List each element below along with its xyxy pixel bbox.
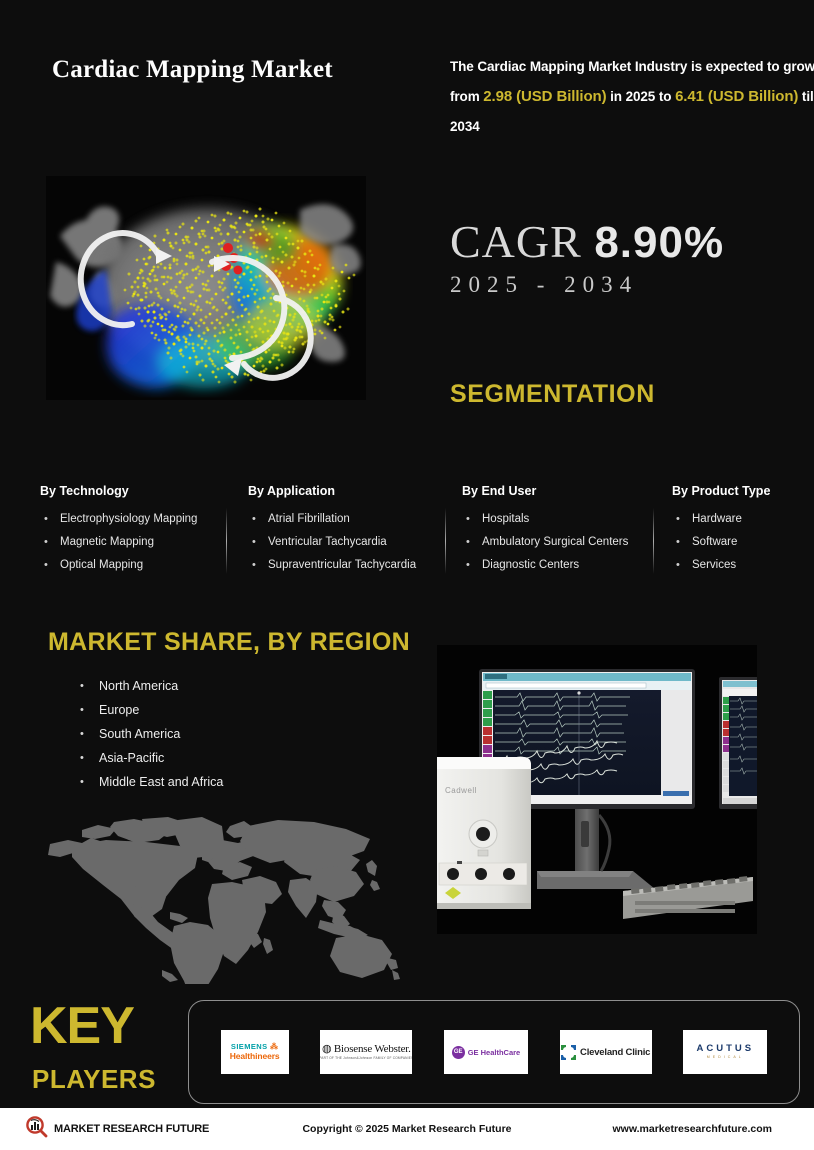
list-item: •Supraventricular Tachycardia [248,554,458,577]
list-item: •South America [75,722,223,746]
bullet-icon: • [80,770,84,794]
segmentation-title: SEGMENTATION [450,380,655,409]
logo-biosense-webster[interactable]: ◍ Biosense Webster. PART OF THE Johnson&… [320,1030,412,1074]
segment-header: By End User [462,484,662,498]
logo-text-line1: SIEMENS [231,1042,268,1051]
bullet-icon: • [466,508,470,531]
list-item: •Magnetic Mapping [40,531,210,554]
list-item: •Services [672,554,812,577]
list-item-label: Hospitals [482,513,529,525]
logo-text-line1: Biosense Webster. [334,1043,411,1055]
intro-value-start: 2.98 (USD Billion) [483,88,606,105]
intro-value-end: 6.41 (USD Billion) [675,88,798,105]
list-item: •Ambulatory Surgical Centers [462,531,662,554]
cagr-block: CAGR 8.90% [450,215,724,270]
list-item-label: Diagnostic Centers [482,559,579,571]
region-label: Middle East and Africa [99,775,223,789]
list-item-label: Atrial Fibrillation [268,513,350,525]
cagr-label: CAGR [450,216,582,267]
segmentation-column-end-user: By End User •Hospitals •Ambulatory Surgi… [462,484,662,577]
bullet-icon: • [252,531,256,554]
column-divider [653,508,654,574]
key-players-container: SIEMENS ⁂ Healthineers ◍ Biosense Webste… [188,1000,800,1104]
list-item: •North America [75,674,223,698]
segment-header: By Product Type [672,484,812,498]
bullet-icon: • [44,554,48,577]
market-share-title: MARKET SHARE, BY REGION [48,628,410,657]
cleveland-clinic-icon [561,1045,576,1060]
bullet-icon: • [252,508,256,531]
bullet-icon: • [80,746,84,770]
bullet-icon: • [252,554,256,577]
bullet-icon: • [466,531,470,554]
bullet-icon: • [466,554,470,577]
infographic-page: Cardiac Mapping Market The Cardiac Mappi… [0,0,814,1150]
page-title: Cardiac Mapping Market [52,52,392,87]
list-item: •Middle East and Africa [75,770,223,794]
column-divider [226,508,227,574]
list-item-label: Software [692,536,737,548]
segment-item-list: •Electrophysiology Mapping •Magnetic Map… [40,508,210,577]
list-item: •Hospitals [462,508,662,531]
globe-icon: ◍ [322,1043,331,1055]
segment-item-list: •Hardware •Software •Services [672,508,812,577]
segmentation-column-technology: By Technology •Electrophysiology Mapping… [40,484,210,577]
list-item-label: Ambulatory Surgical Centers [482,536,628,548]
region-label: North America [99,679,178,693]
region-list: •North America •Europe •South America •A… [75,674,223,794]
list-item: •Software [672,531,812,554]
logo-text-line1: Cleveland Clinic [580,1047,650,1058]
list-item-label: Magnetic Mapping [60,536,154,548]
logo-text-line1: GE HealthCare [468,1048,521,1057]
bullet-icon: • [44,531,48,554]
intro-paragraph: The Cardiac Mapping Market Industry is e… [450,52,814,142]
bullet-icon: • [676,508,680,531]
logo-text-line2: Healthineers [230,1052,280,1061]
ep-recording-system-image: Cadwell [437,645,757,934]
intro-mid: in 2025 to [606,89,675,104]
bullet-icon: • [44,508,48,531]
list-item-label: Hardware [692,513,742,525]
svg-text:Cadwell: Cadwell [445,786,477,795]
list-item-label: Electrophysiology Mapping [60,513,197,525]
bullet-icon: • [80,698,84,722]
sparkle-icon: ⁂ [270,1042,278,1051]
market-research-future-logo-icon [26,1116,48,1143]
cagr-value: 8.90% [594,218,724,267]
list-item: •Electrophysiology Mapping [40,508,210,531]
segment-item-list: •Hospitals •Ambulatory Surgical Centers … [462,508,662,577]
key-players-logo-row: SIEMENS ⁂ Healthineers ◍ Biosense Webste… [189,1001,799,1103]
list-item: •Ventricular Tachycardia [248,531,458,554]
logo-ge-healthcare[interactable]: GE GE HealthCare [444,1030,528,1074]
logo-siemens-healthineers[interactable]: SIEMENS ⁂ Healthineers [221,1030,289,1074]
bullet-icon: • [80,722,84,746]
logo-cleveland-clinic[interactable]: Cleveland Clinic [560,1030,652,1074]
cagr-year-range: 2025 - 2034 [450,272,638,298]
list-item: •Asia-Pacific [75,746,223,770]
bullet-icon: • [676,531,680,554]
segment-header: By Technology [40,484,210,498]
footer-copyright: Copyright © 2025 Market Research Future [302,1123,511,1135]
bullet-icon: • [676,554,680,577]
footer-bar: MARKET RESEARCH FUTURE Copyright © 2025 … [0,1108,814,1150]
logo-acutus-medical[interactable]: ACUTUS MEDICAL [683,1030,767,1074]
list-item-label: Supraventricular Tachycardia [268,559,416,571]
list-item: •Hardware [672,508,812,531]
ge-monogram-icon: GE [452,1046,465,1059]
segmentation-columns: By Technology •Electrophysiology Mapping… [40,484,780,580]
logo-text-line2: MEDICAL [696,1056,754,1060]
list-item: •Diagnostic Centers [462,554,662,577]
region-label: Asia-Pacific [99,751,164,765]
region-label: Europe [99,703,139,717]
cardiac-map-image [46,176,366,400]
list-item: •Europe [75,698,223,722]
segment-item-list: •Atrial Fibrillation •Ventricular Tachyc… [248,508,458,577]
world-map-image [36,808,416,984]
list-item: •Optical Mapping [40,554,210,577]
footer-brand-label: MARKET RESEARCH FUTURE [54,1123,209,1135]
key-players-heading-line2: PLAYERS [32,1065,156,1093]
key-players-heading-line1: KEY [30,1000,134,1052]
footer-website-url[interactable]: www.marketresearchfuture.com [612,1123,772,1135]
segmentation-column-application: By Application •Atrial Fibrillation •Ven… [248,484,458,577]
footer-brand: MARKET RESEARCH FUTURE [26,1116,209,1143]
column-divider [445,508,446,574]
region-label: South America [99,727,180,741]
list-item-label: Optical Mapping [60,559,143,571]
logo-text-line2: PART OF THE Johnson&Johnson FAMILY OF CO… [320,1057,412,1061]
list-item: •Atrial Fibrillation [248,508,458,531]
segment-header: By Application [248,484,458,498]
logo-text-line1: ACUTUS [696,1044,754,1054]
segmentation-column-product-type: By Product Type •Hardware •Software •Ser… [672,484,812,577]
list-item-label: Services [692,559,736,571]
bullet-icon: • [80,674,84,698]
list-item-label: Ventricular Tachycardia [268,536,387,548]
